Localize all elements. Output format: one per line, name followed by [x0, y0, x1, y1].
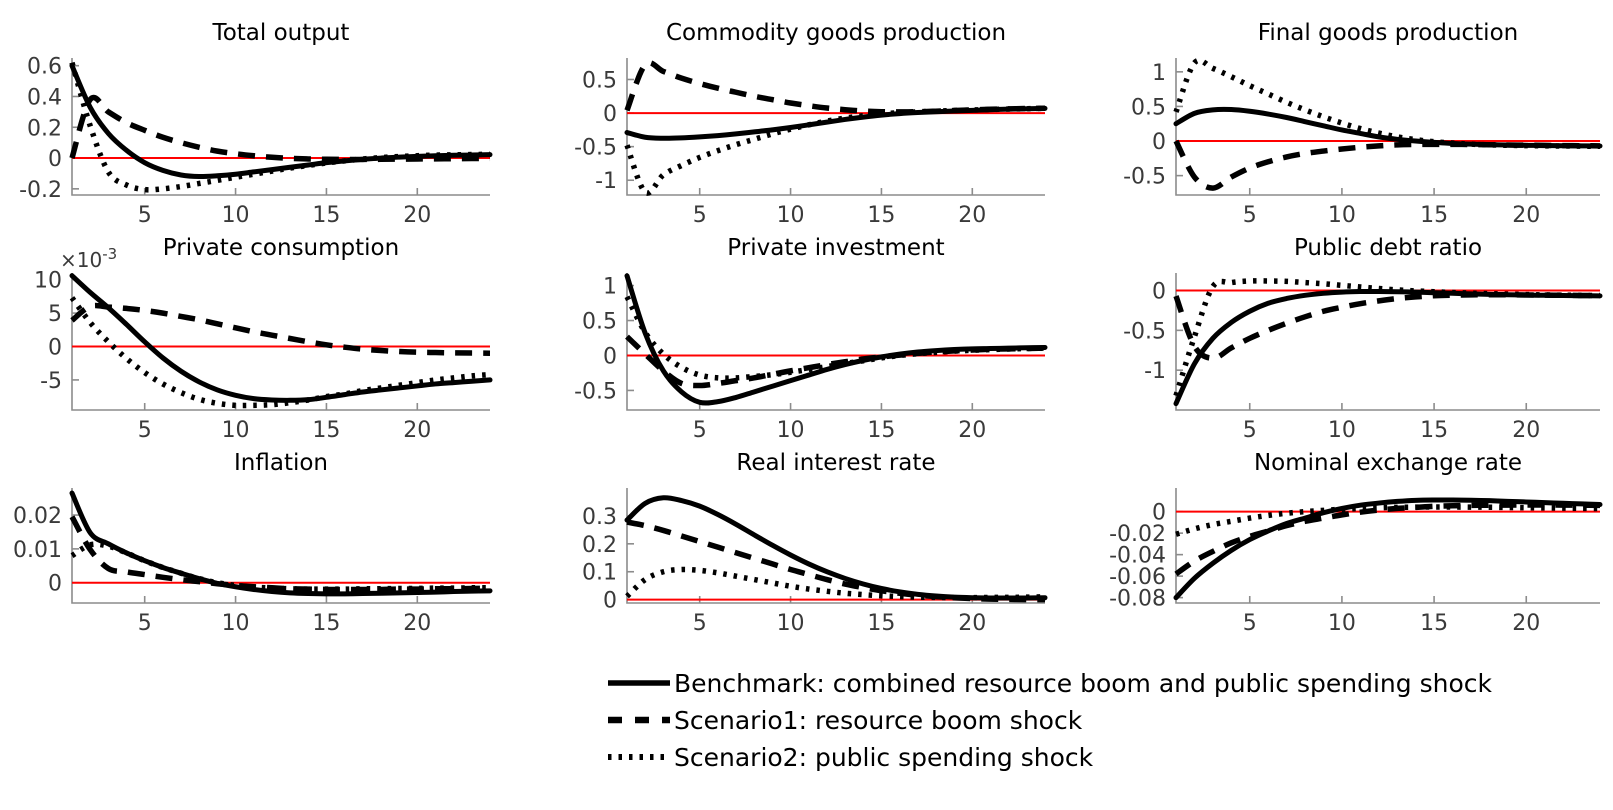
y-tick-label-private-investment-1: 0: [603, 344, 617, 369]
x-tick-label-inflation-2: 15: [312, 611, 340, 636]
series-benchmark-private-investment: [627, 276, 1045, 403]
x-tick-label-public-debt-ratio-0: 5: [1243, 418, 1257, 443]
y-tick-label-private-consumption-2: 5: [48, 302, 62, 327]
panel-commodity-goods-production: Commodity goods production-1-0.500.55101…: [574, 20, 1045, 228]
series-benchmark-inflation: [72, 493, 490, 594]
panel-title-total-output: Total output: [212, 20, 350, 46]
x-tick-label-private-investment-0: 5: [693, 418, 707, 443]
series-scenario1-inflation: [72, 517, 490, 590]
y-tick-label-commodity-goods-production-2: 0: [603, 102, 617, 127]
series-scenario1-total-output: [72, 98, 490, 160]
y-tick-label-total-output-4: 0.6: [27, 55, 62, 80]
axis-spines-private-investment: [627, 273, 1045, 410]
series-benchmark-private-consumption: [72, 276, 490, 401]
y-tick-label-commodity-goods-production-0: -1: [595, 169, 617, 194]
panel-real-interest-rate: Real interest rate00.10.20.35101520: [582, 450, 1045, 636]
panel-title-real-interest-rate: Real interest rate: [736, 450, 935, 476]
y-tick-label-public-debt-ratio-0: -1: [1144, 359, 1166, 384]
panel-title-inflation: Inflation: [234, 450, 328, 476]
x-tick-label-real-interest-rate-1: 10: [777, 611, 805, 636]
y-tick-label-total-output-3: 0.4: [27, 85, 62, 110]
x-tick-label-nominal-exchange-rate-0: 5: [1243, 611, 1257, 636]
panel-private-investment: Private investment-0.500.515101520: [574, 235, 1045, 443]
panel-title-public-debt-ratio: Public debt ratio: [1294, 235, 1482, 261]
y-tick-label-real-interest-rate-1: 0.1: [582, 561, 617, 586]
y-tick-label-final-goods-production-3: 1: [1152, 61, 1166, 86]
x-tick-label-final-goods-production-3: 20: [1512, 203, 1540, 228]
x-tick-label-private-investment-2: 15: [867, 418, 895, 443]
series-benchmark-real-interest-rate: [627, 498, 1045, 598]
y-tick-label-final-goods-production-2: 0.5: [1131, 95, 1166, 120]
axis-exponent-private-consumption: ×10-3: [60, 245, 117, 272]
panel-title-commodity-goods-production: Commodity goods production: [666, 20, 1006, 46]
y-tick-label-private-investment-0: -0.5: [574, 379, 617, 404]
panel-title-private-consumption: Private consumption: [163, 235, 399, 261]
series-scenario1-private-investment: [627, 337, 1045, 386]
y-tick-label-inflation-2: 0.02: [13, 504, 62, 529]
x-tick-label-final-goods-production-2: 15: [1420, 203, 1448, 228]
x-tick-label-inflation-0: 5: [138, 611, 152, 636]
x-tick-label-private-investment-1: 10: [777, 418, 805, 443]
y-tick-label-real-interest-rate-2: 0.2: [582, 533, 617, 558]
y-tick-label-private-consumption-3: 10: [34, 269, 62, 294]
x-tick-label-public-debt-ratio-2: 15: [1420, 418, 1448, 443]
legend: Benchmark: combined resource boom and pu…: [608, 669, 1493, 772]
x-tick-label-nominal-exchange-rate-3: 20: [1512, 611, 1540, 636]
y-tick-label-nominal-exchange-rate-1: -0.06: [1109, 565, 1166, 590]
panel-nominal-exchange-rate: Nominal exchange rate-0.08-0.06-0.04-0.0…: [1109, 450, 1600, 636]
x-tick-label-public-debt-ratio-1: 10: [1328, 418, 1356, 443]
x-tick-label-commodity-goods-production-3: 20: [958, 203, 986, 228]
y-tick-label-real-interest-rate-3: 0.3: [582, 505, 617, 530]
x-tick-label-inflation-1: 10: [222, 611, 250, 636]
y-tick-label-total-output-1: 0: [48, 147, 62, 172]
axis-spines-private-consumption: [72, 273, 490, 410]
y-tick-label-nominal-exchange-rate-2: -0.04: [1109, 544, 1166, 569]
y-tick-label-final-goods-production-0: -0.5: [1123, 165, 1166, 190]
series-scenario1-public-debt-ratio: [1176, 295, 1600, 358]
series-scenario1-commodity-goods-production: [627, 63, 1045, 112]
y-tick-label-real-interest-rate-0: 0: [603, 589, 617, 614]
series-scenario1-real-interest-rate: [627, 522, 1045, 600]
x-tick-label-nominal-exchange-rate-2: 15: [1420, 611, 1448, 636]
y-tick-label-private-investment-2: 0.5: [582, 310, 617, 335]
figure-canvas: Total output-0.200.20.40.65101520Commodi…: [0, 0, 1613, 810]
y-tick-label-inflation-0: 0: [48, 572, 62, 597]
y-tick-label-nominal-exchange-rate-3: -0.02: [1109, 522, 1166, 547]
x-tick-label-private-consumption-3: 20: [403, 418, 431, 443]
y-tick-label-commodity-goods-production-3: 0.5: [582, 68, 617, 93]
x-tick-label-private-consumption-2: 15: [312, 418, 340, 443]
series-scenario2-final-goods-production: [1176, 60, 1600, 146]
x-tick-label-private-investment-3: 20: [958, 418, 986, 443]
legend-label-0: Benchmark: combined resource boom and pu…: [674, 669, 1493, 698]
x-tick-label-real-interest-rate-3: 20: [958, 611, 986, 636]
y-tick-label-nominal-exchange-rate-0: -0.08: [1109, 587, 1166, 612]
panel-title-private-investment: Private investment: [727, 235, 944, 261]
panel-private-consumption: Private consumption×10-3-505105101520: [34, 235, 490, 443]
x-tick-label-private-consumption-1: 10: [222, 418, 250, 443]
y-tick-label-final-goods-production-1: 0: [1152, 130, 1166, 155]
x-tick-label-total-output-3: 20: [403, 203, 431, 228]
y-tick-label-public-debt-ratio-2: 0: [1152, 280, 1166, 305]
x-tick-label-public-debt-ratio-3: 20: [1512, 418, 1540, 443]
y-tick-label-private-consumption-0: -5: [40, 369, 62, 394]
panel-final-goods-production: Final goods production-0.500.515101520: [1123, 20, 1600, 228]
legend-label-1: Scenario1: resource boom shock: [674, 706, 1083, 735]
impulse-response-figure: Total output-0.200.20.40.65101520Commodi…: [0, 0, 1613, 810]
x-tick-label-commodity-goods-production-0: 5: [693, 203, 707, 228]
panel-inflation: Inflation00.010.025101520: [13, 450, 490, 636]
panel-public-debt-ratio: Public debt ratio-1-0.505101520: [1123, 235, 1600, 443]
panel-title-nominal-exchange-rate: Nominal exchange rate: [1254, 450, 1522, 476]
y-tick-label-public-debt-ratio-1: -0.5: [1123, 319, 1166, 344]
x-tick-label-final-goods-production-1: 10: [1328, 203, 1356, 228]
series-scenario1-nominal-exchange-rate: [1176, 505, 1600, 574]
legend-label-2: Scenario2: public spending shock: [674, 743, 1094, 772]
y-tick-label-private-consumption-1: 0: [48, 336, 62, 361]
x-tick-label-total-output-0: 5: [138, 203, 152, 228]
y-tick-label-total-output-2: 0.2: [27, 116, 62, 141]
x-tick-label-commodity-goods-production-2: 15: [867, 203, 895, 228]
y-tick-label-nominal-exchange-rate-4: 0: [1152, 501, 1166, 526]
y-tick-label-commodity-goods-production-1: -0.5: [574, 136, 617, 161]
x-tick-label-commodity-goods-production-1: 10: [777, 203, 805, 228]
x-tick-label-real-interest-rate-0: 5: [693, 611, 707, 636]
y-tick-label-inflation-1: 0.01: [13, 538, 62, 563]
x-tick-label-real-interest-rate-2: 15: [867, 611, 895, 636]
x-tick-label-total-output-1: 10: [222, 203, 250, 228]
y-tick-label-private-investment-3: 1: [603, 275, 617, 300]
series-benchmark-nominal-exchange-rate: [1176, 500, 1600, 598]
x-tick-label-inflation-3: 20: [403, 611, 431, 636]
series-benchmark-public-debt-ratio: [1176, 291, 1600, 403]
x-tick-label-nominal-exchange-rate-1: 10: [1328, 611, 1356, 636]
x-tick-label-total-output-2: 15: [312, 203, 340, 228]
panel-total-output: Total output-0.200.20.40.65101520: [19, 20, 490, 228]
panel-grid: Total output-0.200.20.40.65101520Commodi…: [13, 20, 1600, 636]
panel-title-final-goods-production: Final goods production: [1258, 20, 1518, 46]
x-tick-label-private-consumption-0: 5: [138, 418, 152, 443]
x-tick-label-final-goods-production-0: 5: [1243, 203, 1257, 228]
y-tick-label-total-output-0: -0.2: [19, 178, 62, 203]
